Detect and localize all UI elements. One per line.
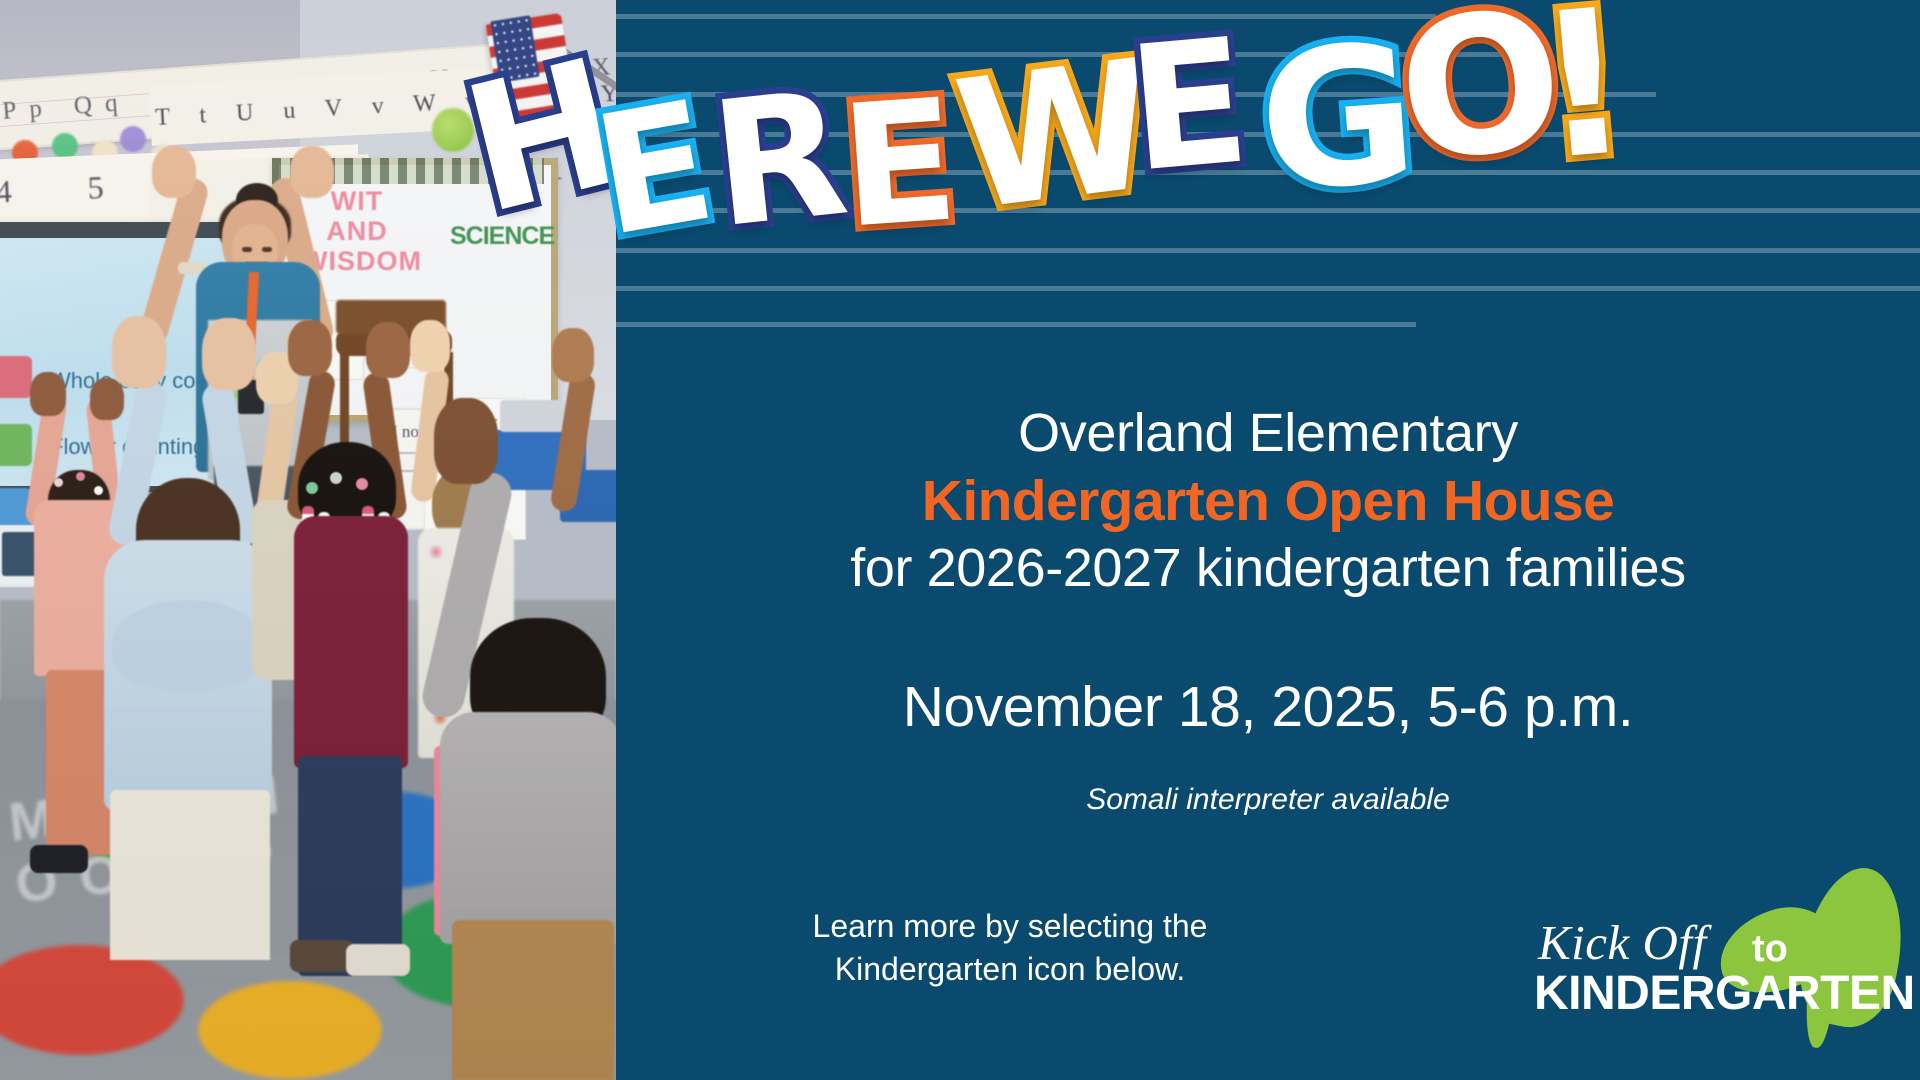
green-pom-decoration xyxy=(432,108,474,152)
teacher-eye xyxy=(262,247,272,252)
learn-more-line-1: Learn more by selecting the xyxy=(700,905,1320,948)
logo-to-text: to xyxy=(1752,928,1788,971)
bunting-dot xyxy=(120,126,146,152)
teacher-hand-left xyxy=(152,146,196,198)
wit-and-wisdom-label: WIT AND WISDOM xyxy=(302,186,412,276)
screen-icon xyxy=(0,424,32,466)
background-line xyxy=(616,14,1436,19)
storage-bin xyxy=(500,400,566,432)
background-line xyxy=(616,286,1920,291)
school-name: Overland Elementary xyxy=(616,402,1920,464)
poster-canvas: Pp Qq Rr Ss Tt Uu Vv Ww Xx Yy Zz T t U u… xyxy=(0,0,1920,1080)
bunting-dot xyxy=(52,133,78,159)
screen-icon xyxy=(0,356,32,398)
science-label: SCIENCE xyxy=(450,222,554,251)
background-line xyxy=(616,52,1506,57)
event-datetime: November 18, 2025, 5-6 p.m. xyxy=(616,674,1920,740)
learn-more-note: Learn more by selecting the Kindergarten… xyxy=(700,905,1320,991)
background-line xyxy=(616,322,1416,327)
classroom-photo: Pp Qq Rr Ss Tt Uu Vv Ww Xx Yy Zz T t U u… xyxy=(0,0,616,1080)
event-audience: for 2026-2027 kindergarten families xyxy=(616,537,1920,599)
background-line xyxy=(616,92,1656,97)
logo-kindergarten-text: KINDERGARTEN xyxy=(1534,966,1915,1021)
teacher-hand-right xyxy=(290,146,334,198)
logo-kick-off-text: Kick Off xyxy=(1538,914,1707,971)
background-line xyxy=(616,170,1920,175)
interpreter-note: Somali interpreter available xyxy=(616,783,1920,817)
background-line xyxy=(616,132,1920,137)
background-line xyxy=(616,208,1920,213)
kick-off-to-kindergarten-logo: Kick Off to KINDERGARTEN xyxy=(1520,862,1915,1047)
learn-more-line-2: Kindergarten icon below. xyxy=(700,948,1320,991)
background-line xyxy=(616,248,1920,253)
teacher-eye xyxy=(242,247,252,252)
chair-leg xyxy=(340,352,349,448)
event-title: Kindergarten Open House xyxy=(616,468,1920,534)
